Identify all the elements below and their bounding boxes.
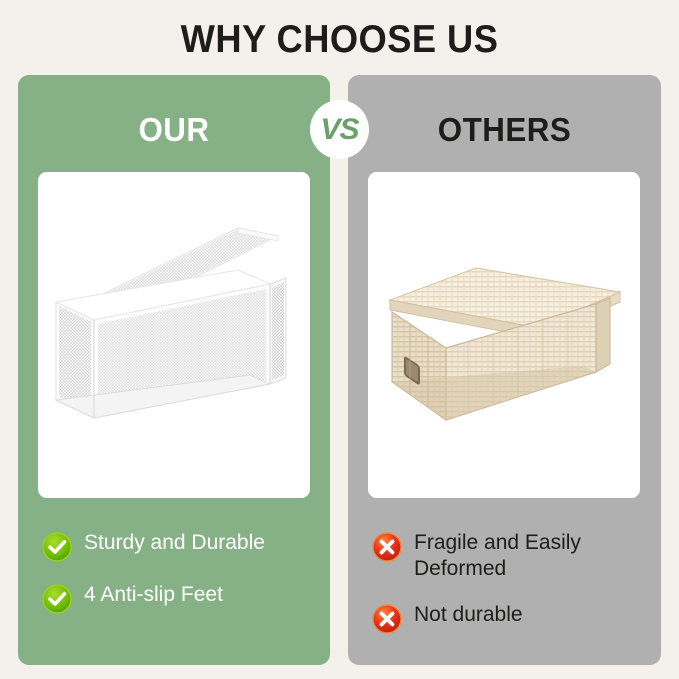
feature-label: Sturdy and Durable bbox=[84, 530, 265, 556]
feature-item: Not durable bbox=[372, 602, 644, 634]
comparison-infographic: WHY CHOOSE US OUR bbox=[0, 0, 679, 679]
others-panel: OTHERS bbox=[348, 75, 661, 665]
our-panel: OUR bbox=[18, 75, 330, 665]
vs-badge-label: VS bbox=[320, 113, 358, 147]
others-feature-list: Fragile and Easily Deformed bbox=[372, 530, 644, 654]
others-product-image-card bbox=[368, 172, 640, 498]
white-mesh-basket-illustration bbox=[38, 172, 310, 498]
our-product-image-card bbox=[38, 172, 310, 498]
feature-label: Fragile and Easily Deformed bbox=[414, 530, 644, 582]
others-panel-heading: OTHERS bbox=[356, 111, 653, 149]
our-feature-list: Sturdy and Durable bbox=[42, 530, 314, 634]
woven-rattan-basket-illustration bbox=[368, 172, 640, 498]
feature-label: 4 Anti-slip Feet bbox=[84, 582, 223, 608]
x-circle-icon bbox=[372, 604, 402, 634]
our-panel-heading: OUR bbox=[26, 111, 322, 149]
vs-badge: VS bbox=[310, 100, 369, 159]
page-title: WHY CHOOSE US bbox=[24, 18, 655, 62]
feature-item: Fragile and Easily Deformed bbox=[372, 530, 644, 582]
x-circle-icon bbox=[372, 532, 402, 562]
feature-label: Not durable bbox=[414, 602, 523, 628]
check-circle-icon bbox=[42, 532, 72, 562]
feature-item: Sturdy and Durable bbox=[42, 530, 314, 562]
feature-item: 4 Anti-slip Feet bbox=[42, 582, 314, 614]
check-circle-icon bbox=[42, 584, 72, 614]
